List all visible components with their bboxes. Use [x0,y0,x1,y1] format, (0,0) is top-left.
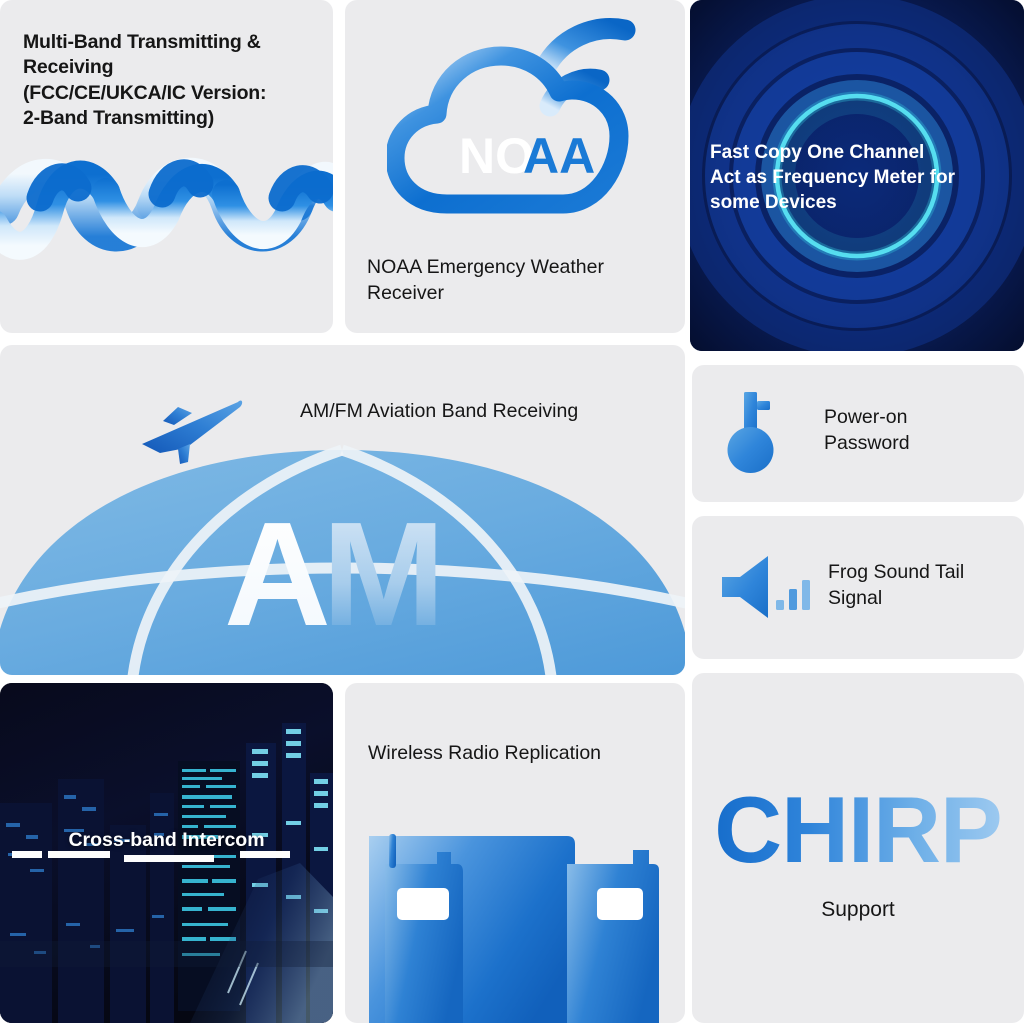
frog-caption: Frog Sound Tail Signal [828,560,1013,611]
intercom-title: Cross-band Intercom [0,829,333,852]
speaker-signal-icon [720,556,820,618]
amfm-caption: AM/FM Aviation Band Receiving [300,400,578,423]
intercom-accent-bar [48,851,110,858]
intercom-accent-bar [240,851,290,858]
feature-card-fastcopy[interactable]: Fast Copy One Channel Act as Frequency M… [690,0,1024,351]
feature-card-wireless[interactable]: Wireless Radio Replication [345,683,685,1023]
noaa-cloud-wifi-icon: NO AA [387,8,652,238]
intercom-accent-bar [12,851,42,858]
chirp-wordmark: CHIRP [692,783,1024,877]
wireless-caption: Wireless Radio Replication [368,742,668,765]
am-globe-icon: A M [0,440,685,675]
noaa-logo-blue: AA [523,128,595,184]
noaa-caption: NOAA Emergency Weather Receiver [367,255,667,307]
multiband-title: Multi-Band Transmitting & Receiving (FCC… [23,30,318,131]
feature-card-noaa[interactable]: NO AA NOAA Emergency Weather Receiver [345,0,685,333]
feature-card-frog[interactable]: Frog Sound Tail Signal [692,516,1024,659]
feature-card-amfm[interactable]: AM/FM Aviation Band Receiving [0,345,685,675]
two-walkie-talkies-icon [361,818,661,1023]
feature-grid: Multi-Band Transmitting & Receiving (FCC… [0,0,1024,1023]
am-globe-letter-m: M [322,492,445,657]
feature-card-chirp[interactable]: CHIRP Support [692,673,1024,1023]
chirp-support-caption: Support [692,898,1024,922]
feature-card-intercom[interactable]: Cross-band Intercom [0,683,333,1023]
fastcopy-title: Fast Copy One Channel Act as Frequency M… [710,140,1015,215]
am-globe-letter-a: A [224,492,331,657]
helix-coil-icon [0,150,333,270]
feature-card-multiband[interactable]: Multi-Band Transmitting & Receiving (FCC… [0,0,333,333]
intercom-accent-bar [124,855,214,862]
password-caption: Power-on Password [824,405,1004,456]
key-icon [722,390,786,474]
feature-card-password[interactable]: Power-on Password [692,365,1024,502]
